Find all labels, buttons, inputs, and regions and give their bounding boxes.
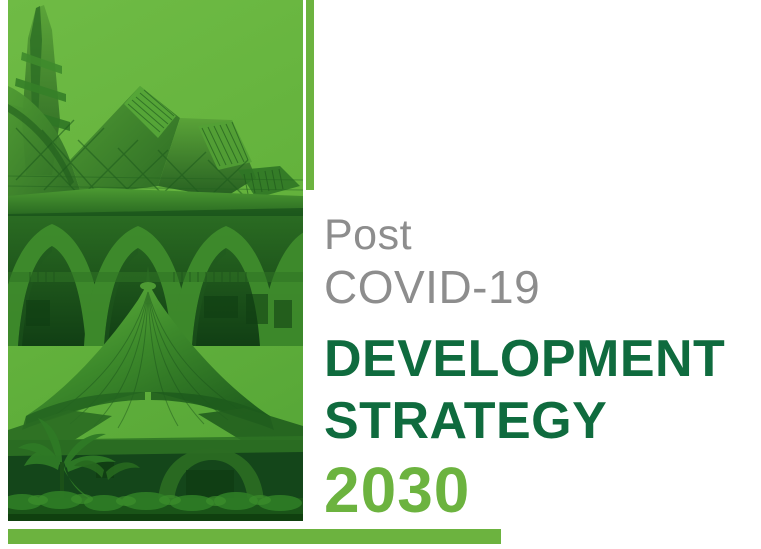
title-line-development: DEVELOPMENT: [324, 328, 744, 390]
title-line-year: 2030: [324, 454, 744, 526]
title-line-covid: COVID-19: [324, 260, 744, 314]
title-line-post: Post: [324, 210, 744, 260]
report-cover-page: Post COVID-19 DEVELOPMENT STRATEGY 2030: [0, 0, 761, 549]
bottom-accent-bar: [8, 529, 501, 544]
cover-title-block: Post COVID-19 DEVELOPMENT STRATEGY 2030: [324, 210, 744, 526]
cover-photo-illustration: [8, 0, 303, 521]
cover-photo: [8, 0, 303, 521]
title-line-strategy: STRATEGY: [324, 390, 744, 452]
vertical-accent-rule: [306, 0, 314, 190]
